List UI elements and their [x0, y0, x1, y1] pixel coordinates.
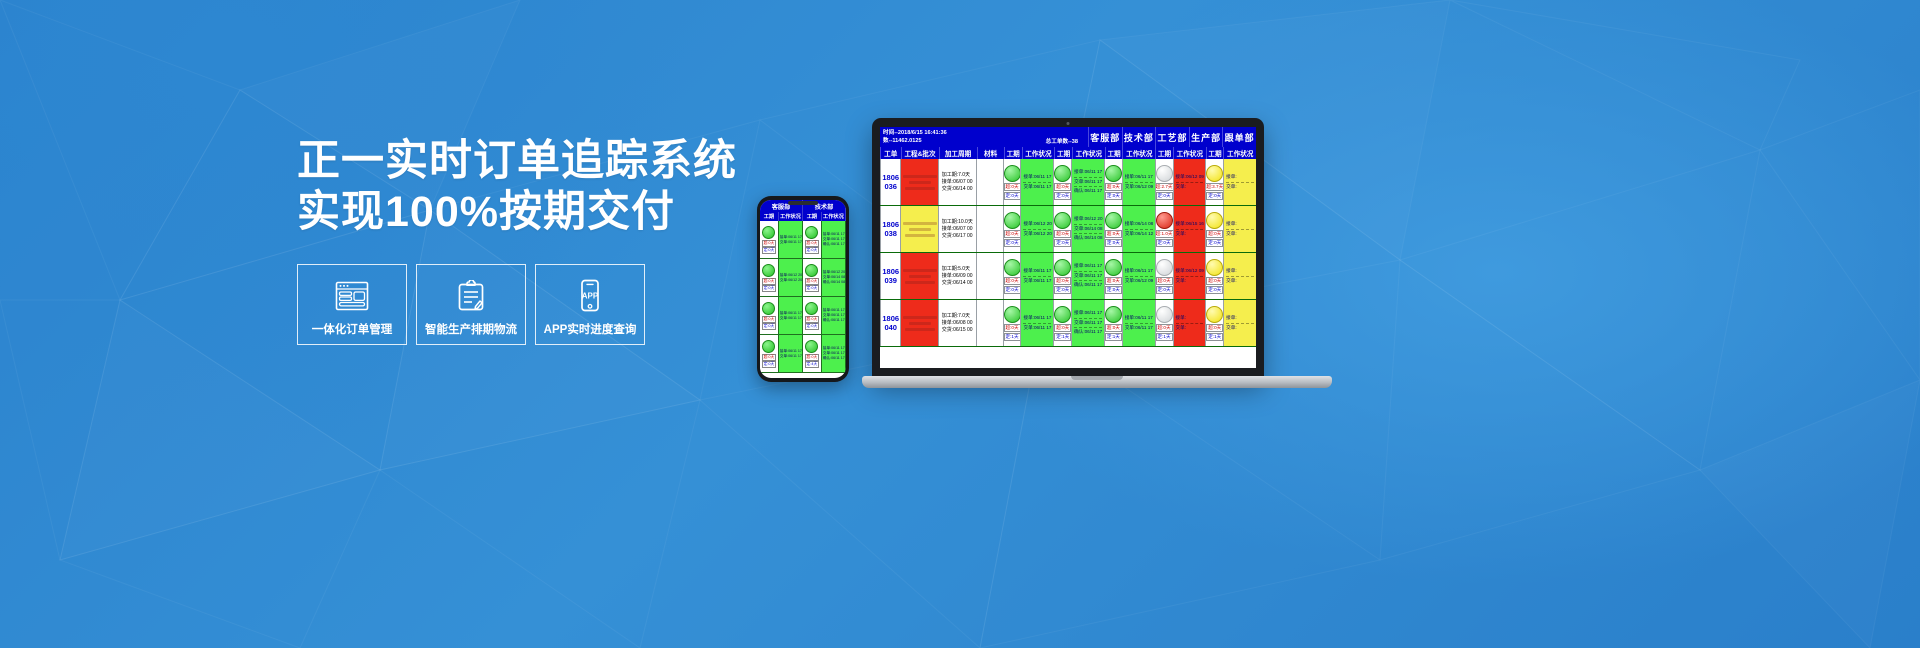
status-badge: 超:0天 — [762, 354, 777, 361]
status-dot-yellow — [1206, 212, 1223, 229]
cell-duration-4: 超:0天定:0天 — [1205, 253, 1223, 299]
phone-cell-status-0: 接单:06/11 17交单:06/11 17 — [779, 297, 803, 334]
cell-duration-0: 超:0天定:1天 — [1003, 300, 1021, 346]
cell-processing-cycle: 加工期:7.0天接单:06/08 00交货:06/15 00 — [938, 300, 976, 346]
status-badge: 定:0天 — [762, 247, 777, 254]
status-badge: 定:4天 — [805, 361, 820, 368]
status-dot-green — [1004, 165, 1021, 182]
phone-cell-status-1: 接单:06/11 17交单:06/11 17确认:06/11 17 — [822, 297, 846, 334]
status-dot-yellow — [1206, 259, 1223, 276]
cell-material — [976, 206, 1003, 252]
cell-work-status-2: 接单:06/11 17交单:06/12 09 — [1122, 159, 1155, 205]
status-line: 交单:06/11 17 — [780, 354, 801, 359]
status-badge: 定:0天 — [1105, 192, 1122, 200]
cell-work-status-4: 接单:交单: — [1223, 300, 1256, 346]
dept-header-merchandising: 跟单部 — [1222, 127, 1256, 147]
status-badge: 定:0天 — [805, 323, 820, 330]
status-dot-green — [1105, 212, 1122, 229]
status-line: 确认:06/14 08 — [1074, 235, 1102, 242]
status-line: 交单:06/14 12 — [1125, 231, 1153, 238]
feature-box-production-scheduling[interactable]: 智能生产排期物流 — [416, 264, 526, 345]
status-line: 接单:06/11 17 — [1023, 268, 1051, 275]
phone-mockup: 客服部 技术部 工期 工作状况 工期 工作状况 超:0天定:0天接单:06/11… — [757, 196, 849, 382]
status-badge: 定:0天 — [762, 323, 777, 330]
status-line: 交单: — [1176, 184, 1186, 191]
dashboard-column-header: 工单 工程&批次 加工周期 材料 工期工作状况工期工作状况工期工作状况工期工作状… — [880, 147, 1256, 159]
cell-order-no: 1806039 — [880, 253, 900, 299]
table-row[interactable]: 1806036加工期:7.0天接单:06/07 00交货:06/14 00超:0… — [880, 159, 1256, 206]
cell-duration-3: 超:0天定:1天 — [1155, 300, 1173, 346]
headline-line-2: 实现100%按期交付 — [297, 187, 757, 238]
status-badge: 超:0天 — [1004, 277, 1021, 285]
phone-table-row[interactable]: 超:0天定:0天接单:06/11 17交单:06/11 17超:0天定:0天接单… — [760, 221, 846, 259]
col-cycle: 加工周期 — [939, 147, 977, 159]
status-badge: 定:0天 — [805, 247, 820, 254]
status-badge: 定:0天 — [762, 285, 777, 292]
col-status-2: 工作状况 — [1122, 147, 1155, 159]
status-badge: 定:0天 — [762, 361, 777, 368]
phone-cell-duration-1: 超:0天定:0天 — [803, 221, 822, 258]
phone-table-row[interactable]: 超:0天定:0天接单:06/11 17交单:06/11 17超:0天定:4天接单… — [760, 335, 846, 373]
meta-time: 时间--2018/6/15 16:41:36 — [883, 129, 1085, 137]
status-badge: 超:0天 — [1156, 324, 1173, 332]
col-status-0: 工作状况 — [1022, 147, 1055, 159]
status-badge: 定:0天 — [1004, 192, 1021, 200]
col-status-1: 工作状况 — [1072, 147, 1105, 159]
status-line: 交单: — [1176, 231, 1186, 238]
cell-work-status-3: 接单:06/12 09交单: — [1173, 253, 1206, 299]
status-line: 交单:06/11 17 — [1074, 179, 1102, 186]
status-line: 接单: — [1226, 315, 1236, 322]
cell-duration-1: 超:0天定:1天 — [1053, 300, 1071, 346]
status-line: 交单: — [1226, 325, 1236, 332]
cell-work-status-2: 接单:06/14 08交单:06/14 12 — [1122, 206, 1155, 252]
cell-work-status-4: 接单:交单: — [1223, 159, 1256, 205]
status-dot-green — [1105, 259, 1122, 276]
cell-processing-cycle: 加工期:5.0天接单:06/09 00交货:06/14 00 — [938, 253, 976, 299]
cell-work-status-2: 接单:06/11 17交单:06/12 09 — [1122, 253, 1155, 299]
status-line: 接单: — [1176, 315, 1186, 322]
status-line: 确认:06/11 17 — [823, 242, 844, 247]
feature-label: APP实时进度查询 — [544, 321, 637, 337]
phone-cell-status-0: 接单:06/11 17交单:06/11 17 — [779, 221, 803, 258]
cell-work-status-4: 接单:交单: — [1223, 253, 1256, 299]
phone-col-status-cs: 工作状况 — [779, 212, 803, 221]
col-order-no: 工单 — [880, 147, 901, 159]
status-badge: 超:2.7天 — [1155, 183, 1173, 191]
status-line: 确认:06/11 17 — [1074, 282, 1102, 289]
laptop-trackpad-notch — [1071, 376, 1123, 380]
cell-project-batch — [900, 300, 937, 346]
status-dot-green — [1054, 306, 1071, 323]
status-badge: 超:0天 — [1105, 230, 1122, 238]
status-dot-grey — [1156, 306, 1173, 323]
status-line: 接单:06/11 17 — [1125, 268, 1153, 275]
cell-order-no: 1806038 — [880, 206, 900, 252]
status-line: 交单:06/11 17 — [780, 240, 801, 245]
status-line: 交单:06/11 17 — [1023, 184, 1051, 191]
phone-cell-duration-1: 超:0天定:0天 — [803, 297, 822, 334]
status-line: 交单:06/12 20 — [780, 278, 801, 283]
status-line: 接单:06/11 17 — [1023, 315, 1051, 322]
status-line: 接单:06/11 17 — [1125, 174, 1153, 181]
laptop-lid: 时间--2018/6/15 16:41:36 数--11462.0125 总工单… — [872, 118, 1264, 380]
status-badge: 超:1.0天 — [1155, 230, 1173, 238]
phone-screen: 客服部 技术部 工期 工作状况 工期 工作状况 超:0天定:0天接单:06/11… — [760, 200, 846, 378]
cell-material — [976, 253, 1003, 299]
phone-notch — [788, 201, 818, 205]
svg-text:APP: APP — [582, 292, 599, 301]
status-line: 交单:06/11 17 — [780, 316, 801, 321]
status-dot-green — [762, 340, 775, 353]
cell-work-status-3: 接单:06/12 09交单: — [1173, 159, 1206, 205]
cell-work-status-3: 接单:交单: — [1173, 300, 1206, 346]
cell-processing-cycle: 加工期:7.0天接单:06/07 00交货:06/14 00 — [938, 159, 976, 205]
phone-cell-status-0: 接单:06/11 17交单:06/11 17 — [779, 335, 803, 372]
cell-processing-cycle: 加工期:10.0天接单:06/07 00交货:06/17 00 — [938, 206, 976, 252]
status-badge: 定:0天 — [1156, 239, 1173, 247]
status-badge: 超:0天 — [762, 240, 777, 247]
cell-work-status-0: 接单:06/11 17交单:06/11 17 — [1020, 159, 1053, 205]
status-badge: 超:0天 — [805, 316, 820, 323]
status-badge: 定:0天 — [1004, 239, 1021, 247]
status-badge: 超:0天 — [1156, 277, 1173, 285]
table-row[interactable]: 1806038加工期:10.0天接单:06/07 00交货:06/17 00超:… — [880, 206, 1256, 253]
headline-line-1: 正一实时订单追踪系统 — [297, 136, 757, 187]
status-badge: 超:0天 — [1105, 324, 1122, 332]
status-dot-green — [1105, 165, 1122, 182]
phone-table-body: 超:0天定:0天接单:06/11 17交单:06/11 17超:0天定:0天接单… — [760, 221, 846, 373]
mobile-app-icon: APP — [577, 277, 603, 315]
status-line: 确认:06/14 08 — [823, 280, 844, 285]
status-badge: 超:0天 — [805, 278, 820, 285]
status-dot-grey — [1156, 165, 1173, 182]
status-badge: 超:3.7天 — [1205, 183, 1223, 191]
cell-material — [976, 159, 1003, 205]
status-badge: 定:1天 — [1156, 333, 1173, 341]
status-line: 接单:06/11 17 — [1125, 315, 1153, 322]
status-badge: 定:0天 — [1206, 239, 1223, 247]
status-dot-green — [1004, 212, 1021, 229]
status-dot-green — [1054, 259, 1071, 276]
col-status-4: 工作状况 — [1223, 147, 1256, 159]
phone-cell-duration-1: 超:0天定:0天 — [803, 259, 822, 296]
laptop-screen: 时间--2018/6/15 16:41:36 数--11462.0125 总工单… — [880, 127, 1256, 368]
feature-box-order-management[interactable]: 一体化订单管理 — [297, 264, 407, 345]
cell-work-status-1: 接单:06/11 17交单:06/11 17确认:06/11 17 — [1071, 253, 1104, 299]
clipboard-edit-icon — [456, 277, 486, 315]
status-badge: 定:1天 — [1206, 333, 1223, 341]
dashboard-meta: 时间--2018/6/15 16:41:36 数--11462.0125 总工单… — [880, 127, 1088, 147]
status-line: 交单: — [1226, 278, 1236, 285]
col-status-3: 工作状况 — [1173, 147, 1206, 159]
phone-col-status-tech: 工作状况 — [822, 212, 846, 221]
cell-work-status-1: 接单:06/11 17交单:06/11 17确认:06/11 17 — [1071, 159, 1104, 205]
col-duration-2: 工期 — [1105, 147, 1123, 159]
dept-header-process: 工艺部 — [1155, 127, 1189, 147]
order-tracking-dashboard: 时间--2018/6/15 16:41:36 数--11462.0125 总工单… — [880, 127, 1256, 347]
cell-work-status-4: 接单:交单: — [1223, 206, 1256, 252]
feature-box-app-progress-query[interactable]: APP APP实时进度查询 — [535, 264, 645, 345]
status-line: 交单:06/14 08 — [1074, 226, 1102, 233]
phone-cell-status-1: 接单:06/11 17交单:06/11 17确认:06/11 17 — [822, 335, 846, 372]
status-badge: 定:0天 — [805, 285, 820, 292]
dept-header-technology: 技术部 — [1122, 127, 1156, 147]
cell-work-status-0: 接单:06/12 20交单:06/12 20 — [1020, 206, 1053, 252]
laptop-mockup: 时间--2018/6/15 16:41:36 数--11462.0125 总工单… — [862, 118, 1332, 418]
dashboard-topbar: 时间--2018/6/15 16:41:36 数--11462.0125 总工单… — [880, 127, 1256, 147]
status-line: 交单:06/12 09 — [1125, 278, 1153, 285]
status-dot-green — [805, 264, 818, 277]
status-badge: 定:0天 — [1156, 286, 1173, 294]
phone-col-duration-tech: 工期 — [803, 212, 822, 221]
status-badge: 超:0天 — [762, 316, 777, 323]
status-line: 交单:06/12 20 — [1023, 231, 1051, 238]
webcam-icon — [1067, 122, 1070, 125]
status-line: 接单:06/12 09 — [1176, 268, 1204, 275]
cell-work-status-3: 接单:06/15 16交单: — [1173, 206, 1206, 252]
status-dot-green — [1004, 259, 1021, 276]
status-badge: 定:1天 — [1054, 333, 1071, 341]
cell-duration-3: 超:2.7天定:0天 — [1155, 159, 1173, 205]
status-line: 交单:06/11 17 — [1125, 325, 1153, 332]
phone-cell-status-1: 接单:06/12 20交单:06/14 08确认:06/14 08 — [822, 259, 846, 296]
status-line: 交单: — [1176, 325, 1186, 332]
cell-duration-0: 超:0天定:0天 — [1003, 206, 1021, 252]
status-badge: 定:1天 — [1105, 333, 1122, 341]
status-line: 接单: — [1226, 268, 1236, 275]
cell-duration-4: 超:3.7天定:0天 — [1205, 159, 1223, 205]
status-line: 接单:06/11 17 — [1074, 169, 1102, 176]
status-badge: 定:0天 — [1206, 286, 1223, 294]
status-line: 交单: — [1226, 184, 1236, 191]
status-line: 交单:06/11 17 — [1023, 278, 1051, 285]
status-badge: 超:0天 — [1206, 230, 1223, 238]
cell-project-batch — [900, 253, 937, 299]
status-badge: 定:1天 — [1004, 333, 1021, 341]
status-dot-red — [1156, 212, 1173, 229]
status-badge: 超:0天 — [1054, 183, 1071, 191]
table-row[interactable]: 1806039加工期:5.0天接单:06/09 00交货:06/14 00超:0… — [880, 253, 1256, 300]
status-badge: 超:0天 — [805, 240, 820, 247]
status-badge: 超:0天 — [805, 354, 820, 361]
status-dot-green — [762, 302, 775, 315]
dept-header-production: 生产部 — [1189, 127, 1223, 147]
status-dot-green — [805, 340, 818, 353]
cell-duration-2: 超:0天定:0天 — [1104, 206, 1122, 252]
dept-header-customer-service: 客服部 — [1088, 127, 1122, 147]
status-line: 交单:06/11 17 — [1074, 320, 1102, 327]
cell-duration-0: 超:0天定:0天 — [1003, 253, 1021, 299]
phone-cell-duration-0: 超:0天定:0天 — [760, 221, 779, 258]
cell-duration-4: 超:0天定:0天 — [1205, 206, 1223, 252]
status-badge: 定:0天 — [1156, 192, 1173, 200]
status-line: 交单: — [1176, 278, 1186, 285]
status-line: 确认:06/11 17 — [1074, 188, 1102, 195]
col-project: 工程&批次 — [901, 147, 939, 159]
status-badge: 定:0天 — [1105, 286, 1122, 294]
status-badge: 超:0天 — [1206, 277, 1223, 285]
phone-cell-duration-0: 超:0天定:0天 — [760, 297, 779, 334]
status-line: 接单:06/11 17 — [1023, 174, 1051, 181]
cell-duration-3: 超:1.0天定:0天 — [1155, 206, 1173, 252]
phone-cell-duration-0: 超:0天定:0天 — [760, 335, 779, 372]
status-badge: 超:0天 — [1054, 324, 1071, 332]
status-badge: 超:0天 — [1105, 277, 1122, 285]
status-badge: 超:0天 — [1206, 324, 1223, 332]
phone-cell-duration-0: 超:0天定:0天 — [760, 259, 779, 296]
cell-work-status-0: 接单:06/11 17交单:06/11 17 — [1020, 253, 1053, 299]
status-dot-green — [1105, 306, 1122, 323]
status-badge: 超:0天 — [1054, 277, 1071, 285]
status-dot-green — [805, 302, 818, 315]
status-line: 确认:06/11 17 — [823, 356, 844, 361]
cell-duration-4: 超:0天定:1天 — [1205, 300, 1223, 346]
col-duration-0: 工期 — [1004, 147, 1022, 159]
status-dot-green — [762, 226, 775, 239]
feature-label: 智能生产排期物流 — [425, 321, 517, 337]
status-dot-grey — [1156, 259, 1173, 276]
status-line: 接单:06/11 17 — [1074, 263, 1102, 270]
status-badge: 定:0天 — [1105, 239, 1122, 247]
status-line: 交单:06/11 17 — [1023, 325, 1051, 332]
col-duration-3: 工期 — [1155, 147, 1173, 159]
dashboard-table-body: 1806036加工期:7.0天接单:06/07 00交货:06/14 00超:0… — [880, 159, 1256, 347]
cell-duration-1: 超:0天定:0天 — [1053, 253, 1071, 299]
cell-order-no: 1806036 — [880, 159, 900, 205]
cell-material — [976, 300, 1003, 346]
cell-duration-1: 超:0天定:0天 — [1053, 206, 1071, 252]
status-line: 确认:06/11 17 — [1074, 329, 1102, 336]
status-dot-green — [762, 264, 775, 277]
phone-column-header: 工期 工作状况 工期 工作状况 — [760, 212, 846, 221]
status-line: 接单:06/15 16 — [1176, 221, 1204, 228]
dashboard-layout-icon — [335, 277, 369, 315]
status-line: 接单: — [1226, 174, 1236, 181]
status-dot-green — [1004, 306, 1021, 323]
hero-copy: 正一实时订单追踪系统 实现100%按期交付 一体化订单管理 — [297, 136, 757, 345]
col-material: 材料 — [977, 147, 1004, 159]
status-dot-yellow — [1206, 306, 1223, 323]
status-badge: 定:0天 — [1054, 192, 1071, 200]
cell-duration-2: 超:0天定:0天 — [1104, 253, 1122, 299]
status-badge: 定:0天 — [1054, 286, 1071, 294]
phone-cell-duration-1: 超:0天定:4天 — [803, 335, 822, 372]
status-badge: 超:0天 — [1004, 230, 1021, 238]
status-line: 接单:06/12 09 — [1176, 174, 1204, 181]
status-dot-green — [1054, 165, 1071, 182]
cell-order-no: 1806040 — [880, 300, 900, 346]
cell-duration-1: 超:0天定:0天 — [1053, 159, 1071, 205]
phone-cell-status-0: 接单:06/12 20交单:06/12 20 — [779, 259, 803, 296]
cell-work-status-1: 接单:06/12 20交单:06/14 08确认:06/14 08 — [1071, 206, 1104, 252]
cell-work-status-1: 接单:06/11 17交单:06/11 17确认:06/11 17 — [1071, 300, 1104, 346]
phone-col-duration-cs: 工期 — [760, 212, 779, 221]
cell-project-batch — [900, 206, 937, 252]
status-line: 交单:06/12 09 — [1125, 184, 1153, 191]
cell-duration-2: 超:0天定:1天 — [1104, 300, 1122, 346]
cell-project-batch — [900, 159, 937, 205]
status-line: 交单:06/11 17 — [1074, 273, 1102, 280]
cell-work-status-2: 接单:06/11 17交单:06/11 17 — [1122, 300, 1155, 346]
col-duration-4: 工期 — [1206, 147, 1224, 159]
status-line: 接单:06/14 08 — [1125, 221, 1153, 228]
status-badge: 定:0天 — [1004, 286, 1021, 294]
status-dot-yellow — [1206, 165, 1223, 182]
cell-duration-3: 超:0天定:0天 — [1155, 253, 1173, 299]
status-line: 接单:06/11 17 — [1074, 310, 1102, 317]
status-dot-green — [1054, 212, 1071, 229]
status-badge: 超:0天 — [1004, 324, 1021, 332]
status-badge: 超:0天 — [1004, 183, 1021, 191]
status-badge: 超:0天 — [762, 278, 777, 285]
phone-table-row[interactable]: 超:0天定:0天接单:06/12 20交单:06/12 20超:0天定:0天接单… — [760, 259, 846, 297]
phone-table-row[interactable]: 超:0天定:0天接单:06/11 17交单:06/11 17超:0天定:0天接单… — [760, 297, 846, 335]
status-badge: 定:0天 — [1054, 239, 1071, 247]
status-badge: 超:0天 — [1105, 183, 1122, 191]
status-line: 接单:06/12 20 — [1074, 216, 1102, 223]
status-dot-green — [805, 226, 818, 239]
status-line: 接单:06/12 20 — [1023, 221, 1051, 228]
status-line: 确认:06/11 17 — [823, 318, 844, 323]
status-line: 交单: — [1226, 231, 1236, 238]
feature-label: 一体化订单管理 — [312, 321, 393, 337]
cell-duration-2: 超:0天定:0天 — [1104, 159, 1122, 205]
status-badge: 定:0天 — [1206, 192, 1223, 200]
status-badge: 超:0天 — [1054, 230, 1071, 238]
meta-total-orders: 总工单数--38 — [1046, 137, 1078, 145]
col-duration-1: 工期 — [1054, 147, 1072, 159]
cell-duration-0: 超:0天定:0天 — [1003, 159, 1021, 205]
status-line: 接单: — [1226, 221, 1236, 228]
phone-cell-status-1: 接单:06/11 17交单:06/11 17确认:06/11 17 — [822, 221, 846, 258]
table-row[interactable]: 1806040加工期:7.0天接单:06/08 00交货:06/15 00超:0… — [880, 300, 1256, 347]
feature-list: 一体化订单管理 智能生产排期物流 — [297, 264, 757, 345]
cell-work-status-0: 接单:06/11 17交单:06/11 17 — [1020, 300, 1053, 346]
